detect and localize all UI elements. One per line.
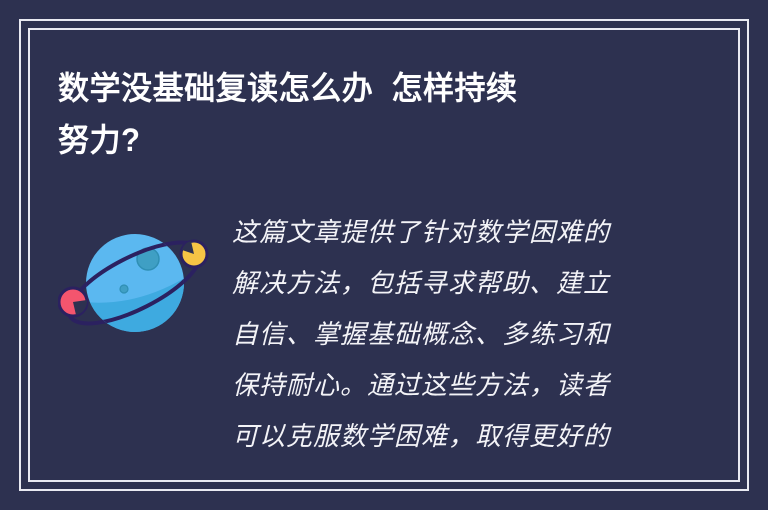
summary-line-2: 解决方法，包括寻求帮助、建立 xyxy=(232,259,652,310)
page-title: 数学没基础复读怎么办 怎样持续 努力? xyxy=(58,62,678,166)
poster-canvas: 数学没基础复读怎么办 怎样持续 努力? 这篇文章提供了针对数学困难的 解决方法，… xyxy=(0,0,768,510)
title-line-1: 数学没基础复读怎么办 怎样持续 xyxy=(58,62,659,114)
summary-line-5: 可以克服数学困难，取得更好的 xyxy=(232,412,652,463)
article-summary: 这篇文章提供了针对数学困难的 解决方法，包括寻求帮助、建立 自信、掌握基础概念、… xyxy=(232,208,652,463)
summary-line-4: 保持耐心。通过这些方法，读者 xyxy=(232,361,652,412)
planet-illustration xyxy=(58,222,216,347)
summary-line-1: 这篇文章提供了针对数学困难的 xyxy=(232,208,652,259)
summary-line-3: 自信、掌握基础概念、多练习和 xyxy=(232,310,652,361)
planet-crater-small xyxy=(120,285,128,293)
moon-yellow xyxy=(181,241,207,267)
moon-pink xyxy=(59,288,87,316)
planet-icon xyxy=(58,222,216,347)
title-line-2: 努力? xyxy=(58,114,659,166)
